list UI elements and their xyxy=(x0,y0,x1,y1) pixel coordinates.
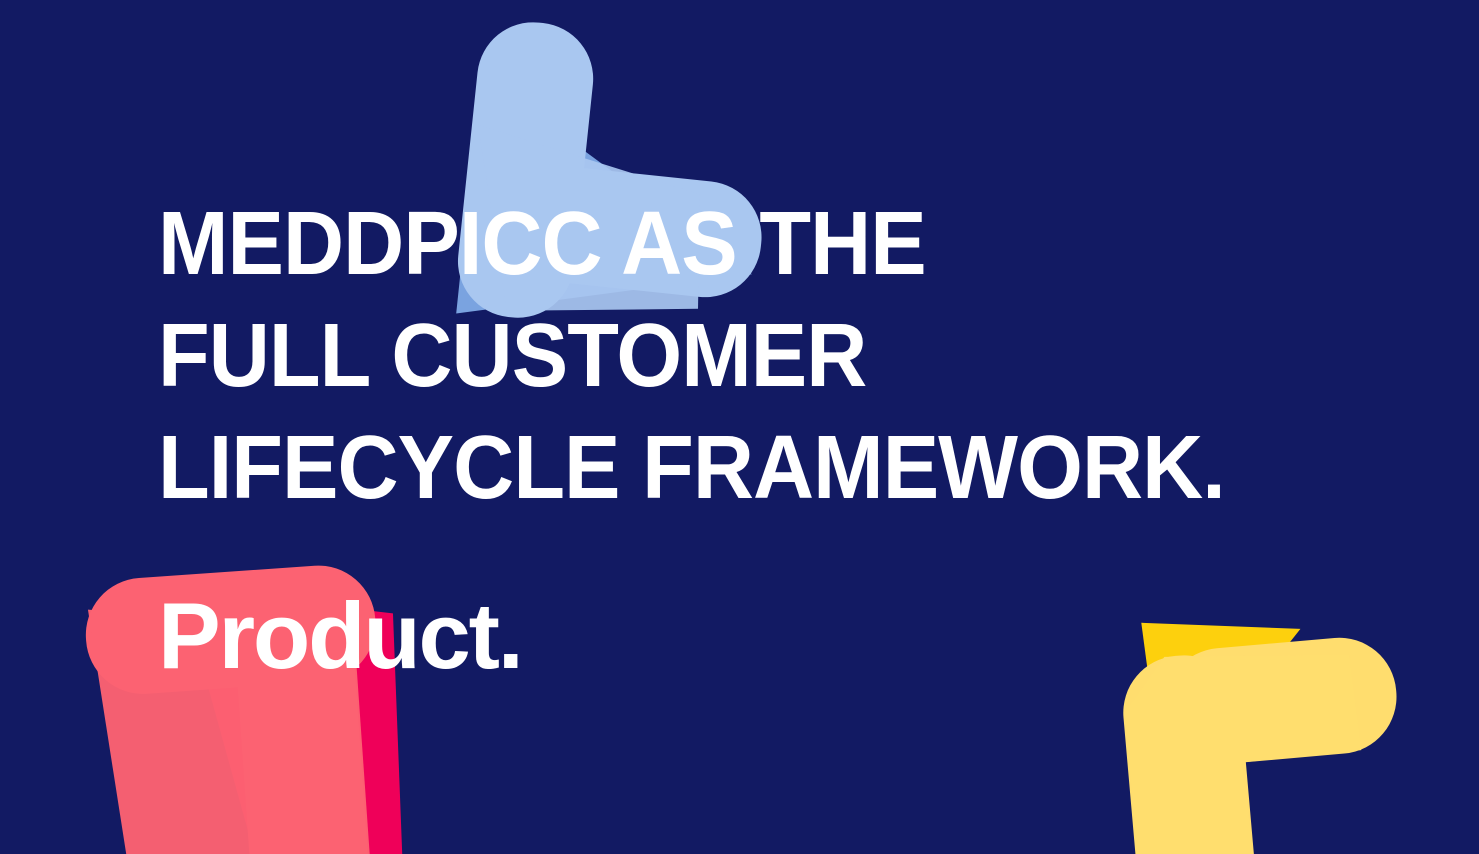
yellow-shape-sheet xyxy=(1121,641,1372,854)
headline-line-1: MEDDPICC AS THE xyxy=(158,188,1314,300)
headline-block: MEDDPICC AS THE FULL CUSTOMER LIFECYCLE … xyxy=(158,188,1388,524)
yellow-shape-arm xyxy=(1160,633,1401,769)
yellow-shape-fold xyxy=(1141,609,1314,800)
headline-line-3: LIFECYCLE FRAMEWORK. xyxy=(158,412,1314,524)
subheadline-text: Product. xyxy=(158,580,522,692)
yellow-shape-stem xyxy=(1119,651,1262,854)
subheadline-block: Product. xyxy=(158,580,522,692)
headline-line-2: FULL CUSTOMER xyxy=(158,300,1314,412)
slide-canvas: MEDDPICC AS THE FULL CUSTOMER LIFECYCLE … xyxy=(0,0,1479,854)
